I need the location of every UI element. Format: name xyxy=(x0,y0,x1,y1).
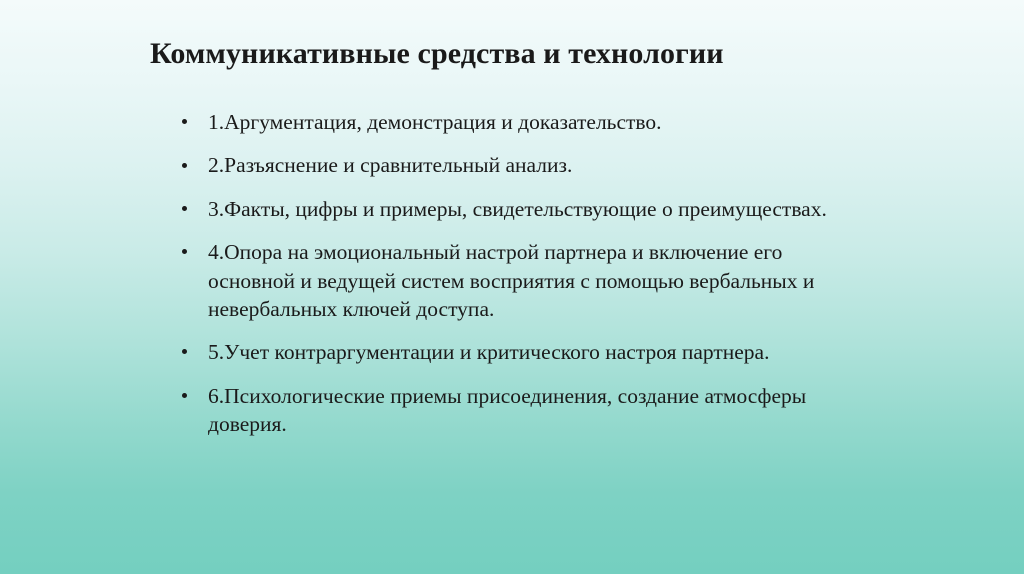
list-item-text: 5.Учет контраргументации и критического … xyxy=(208,338,858,366)
bullet-dot-icon xyxy=(182,119,187,124)
bullet-dot-icon xyxy=(182,206,187,211)
bullet-dot-icon xyxy=(182,393,187,398)
bullet-list: 1.Аргументация, демонстрация и доказател… xyxy=(178,108,858,453)
slide-title: Коммуникативные средства и технологии xyxy=(150,36,950,72)
list-item: 2.Разъяснение и сравнительный анализ. xyxy=(178,151,858,179)
list-item-text: 4.Опора на эмоциональный настрой партнер… xyxy=(208,238,858,323)
list-item-text: 6.Психологические приемы присоединения, … xyxy=(208,382,858,439)
list-item: 3.Факты, цифры и примеры, свидетельствую… xyxy=(178,195,858,223)
bullet-dot-icon xyxy=(182,349,187,354)
list-item: 4.Опора на эмоциональный настрой партнер… xyxy=(178,238,858,323)
slide-canvas: Коммуникативные средства и технологии 1.… xyxy=(0,0,1024,574)
bullet-dot-icon xyxy=(182,163,187,168)
list-item-text: 3.Факты, цифры и примеры, свидетельствую… xyxy=(208,195,858,223)
list-item: 5.Учет контраргументации и критического … xyxy=(178,338,858,366)
list-item: 1.Аргументация, демонстрация и доказател… xyxy=(178,108,858,136)
list-item: 6.Психологические приемы присоединения, … xyxy=(178,382,858,439)
list-item-text: 1.Аргументация, демонстрация и доказател… xyxy=(208,108,858,136)
bullet-dot-icon xyxy=(182,249,187,254)
list-item-text: 2.Разъяснение и сравнительный анализ. xyxy=(208,151,858,179)
